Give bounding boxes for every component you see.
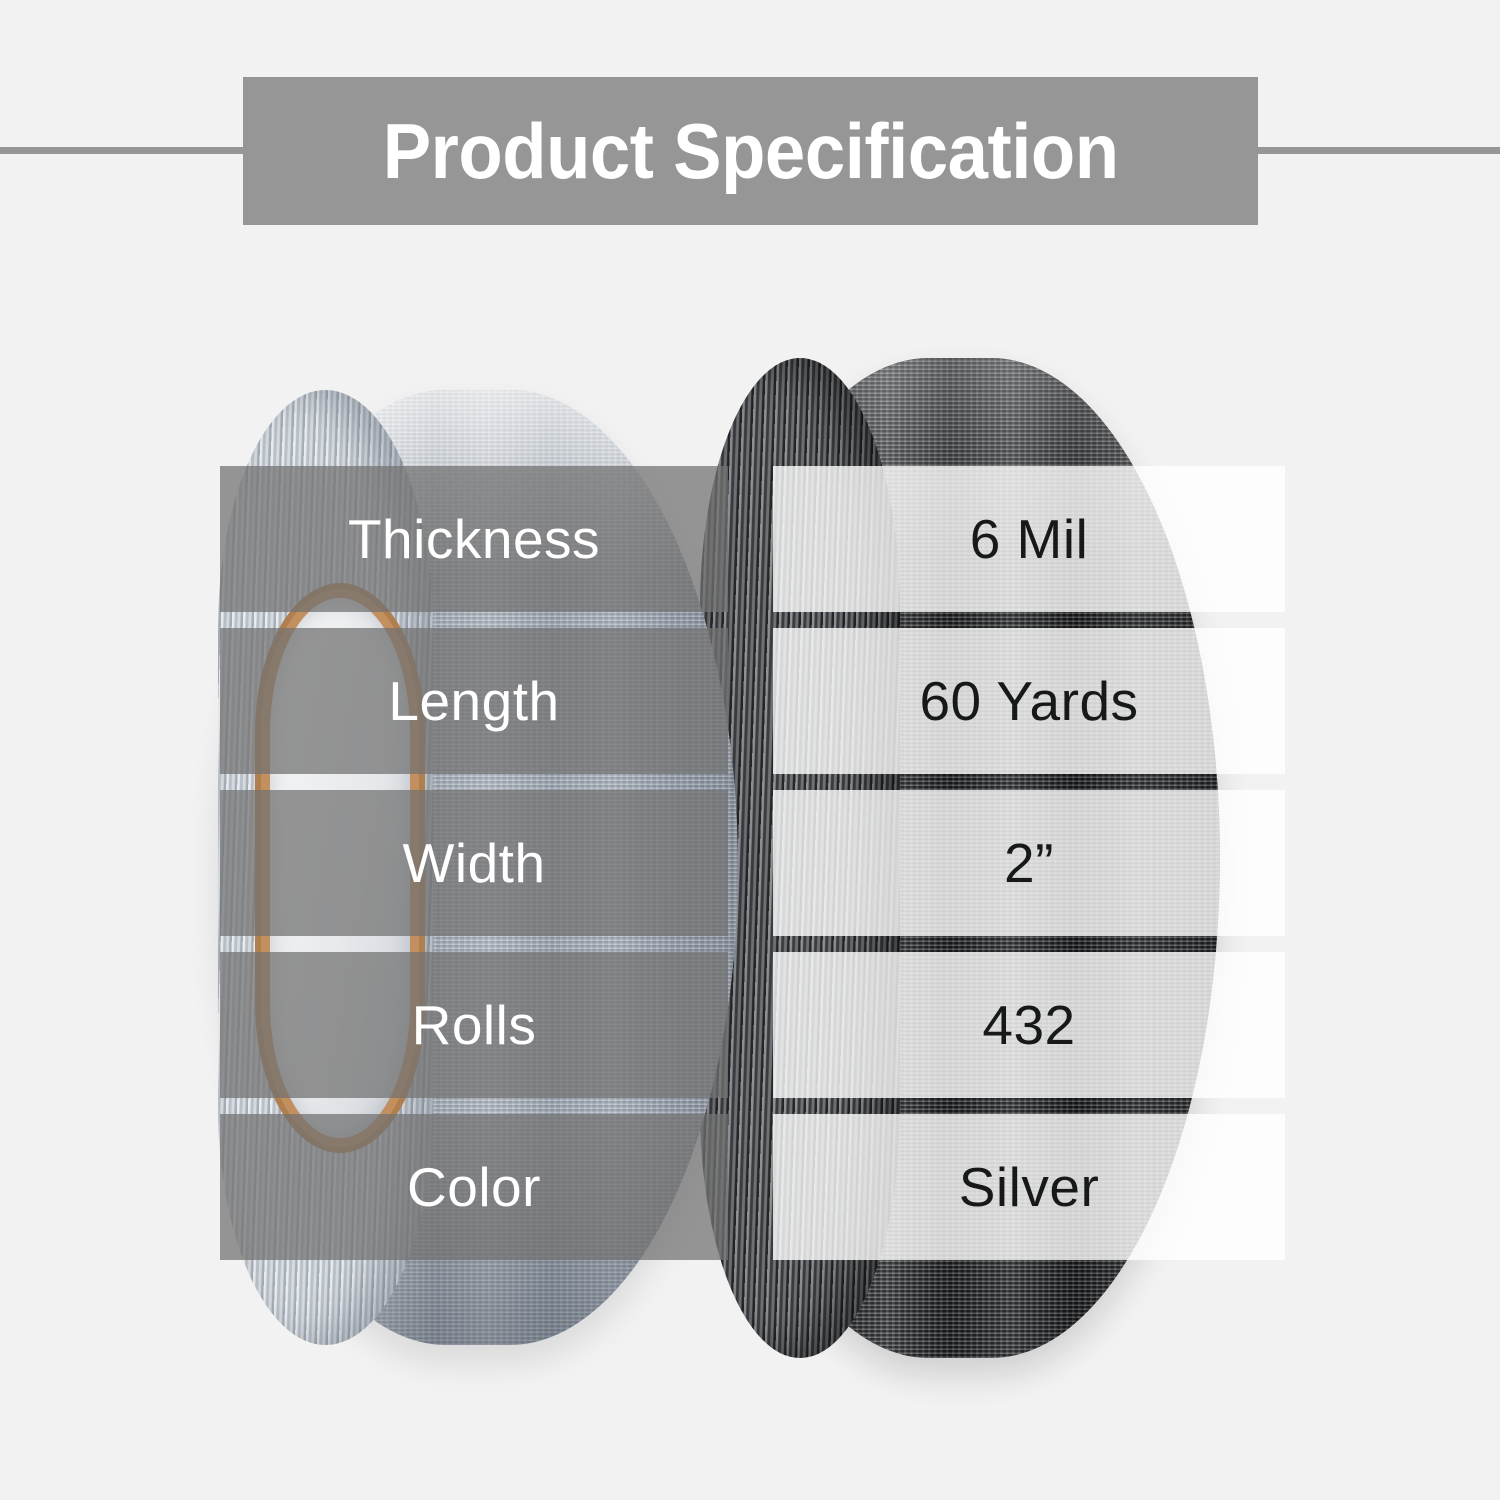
spec-value: Silver [959, 1160, 1100, 1215]
spec-label: Width [402, 836, 545, 891]
spec-label-cell-rolls: Rolls [220, 952, 728, 1098]
spec-label: Color [407, 1160, 541, 1215]
title-banner: Product Specification [243, 77, 1258, 225]
spec-value-cell-width: 2” [773, 790, 1285, 936]
header-rule-left [0, 147, 248, 154]
spec-value-cell-color: Silver [773, 1114, 1285, 1260]
spec-value: 2” [1004, 836, 1054, 891]
spec-label: Thickness [348, 512, 600, 567]
spec-label-cell-length: Length [220, 628, 728, 774]
spec-label: Rolls [412, 998, 537, 1053]
page-title: Product Specification [383, 112, 1119, 190]
spec-label: Length [388, 674, 559, 729]
spec-label-cell-thickness: Thickness [220, 466, 728, 612]
spec-value-cell-rolls: 432 [773, 952, 1285, 1098]
spec-label-cell-color: Color [220, 1114, 728, 1260]
spec-value: 6 Mil [970, 512, 1089, 567]
spec-value-cell-length: 60 Yards [773, 628, 1285, 774]
spec-label-cell-width: Width [220, 790, 728, 936]
spec-value: 432 [982, 998, 1075, 1053]
header-band: Product Specification [0, 0, 1500, 300]
spec-value: 60 Yards [919, 674, 1138, 729]
header-rule-right [1252, 147, 1500, 154]
spec-value-cell-thickness: 6 Mil [773, 466, 1285, 612]
